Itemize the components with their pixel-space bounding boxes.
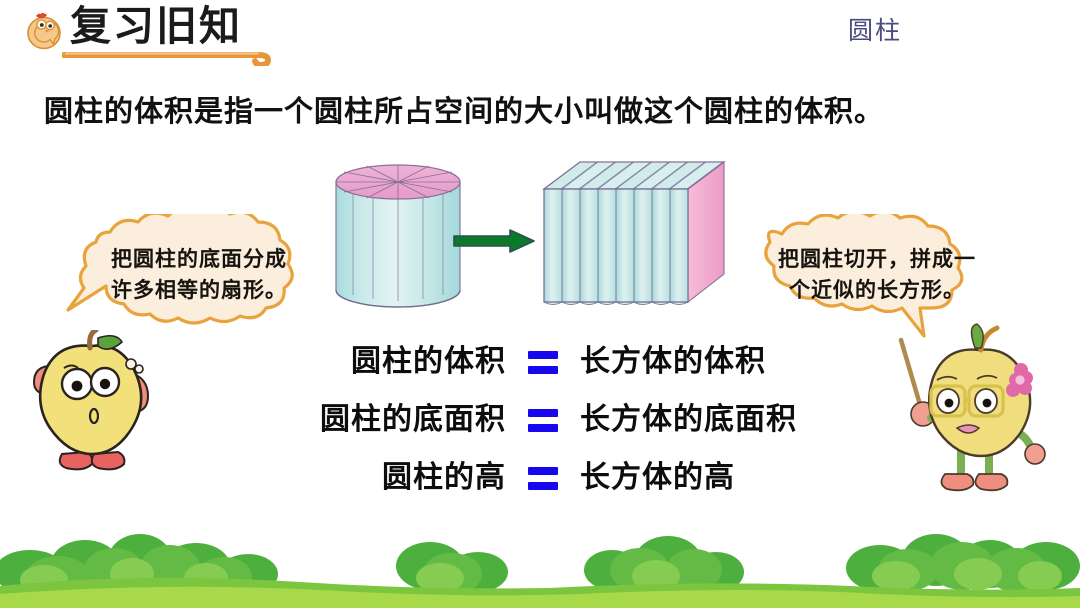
equals-sign [506,409,580,432]
equation-right-term: 长方体的底面积 [580,398,838,442]
apple-student-character [22,330,172,490]
equation-row: 圆柱的体积 长方体的体积 [248,336,838,388]
equation-row: 圆柱的底面积 长方体的底面积 [248,394,838,446]
equals-sign [506,351,580,374]
speech-bubble-left-text: 把圆柱的底面分成 许多相等的扇形。 [88,244,310,306]
speech-bubble-left: 把圆柱的底面分成 许多相等的扇形。 [62,214,334,344]
equation-left-term: 圆柱的底面积 [248,398,506,442]
approximate-rectangular-prism-figure [528,156,733,321]
lesson-statement: 圆柱的体积是指一个圆柱所占空间的大小叫做这个圆柱的体积。 [44,92,1044,132]
grass-border [0,520,1080,608]
equation-left-term: 圆柱的体积 [248,340,506,384]
speech-bubble-right-text: 把圆柱切开，拼成一 个近似的长方形。 [766,244,988,306]
title-underline [62,46,274,66]
bubble-left-line1: 把圆柱的底面分成 [88,244,310,275]
equals-sign [506,467,580,490]
equation-row: 圆柱的高 长方体的高 [248,452,838,504]
equation-right-term: 长方体的高 [580,456,838,500]
chapter-label: 圆柱 [848,16,902,48]
equation-list: 圆柱的体积 长方体的体积 圆柱的底面积 长方体的底面积 圆柱的高 长方体的高 [248,336,838,516]
page-title: 复习旧知 [70,2,242,50]
bubble-left-line2: 许多相等的扇形。 [88,275,310,306]
equation-left-term: 圆柱的高 [248,456,506,500]
sliced-cylinder-figure [328,158,468,318]
bubble-right-line2: 个近似的长方形。 [766,275,988,306]
apple-teacher-character [895,322,1070,502]
equation-right-term: 长方体的体积 [580,340,838,384]
transform-arrow [452,228,536,254]
slide-canvas: 复习旧知 圆柱 圆柱的体积是指一个圆柱所占空间的大小叫做这个圆柱的体积。 [0,0,1080,608]
slide-header: 复习旧知 圆柱 [0,0,1080,70]
bubble-right-line1: 把圆柱切开，拼成一 [766,244,988,275]
